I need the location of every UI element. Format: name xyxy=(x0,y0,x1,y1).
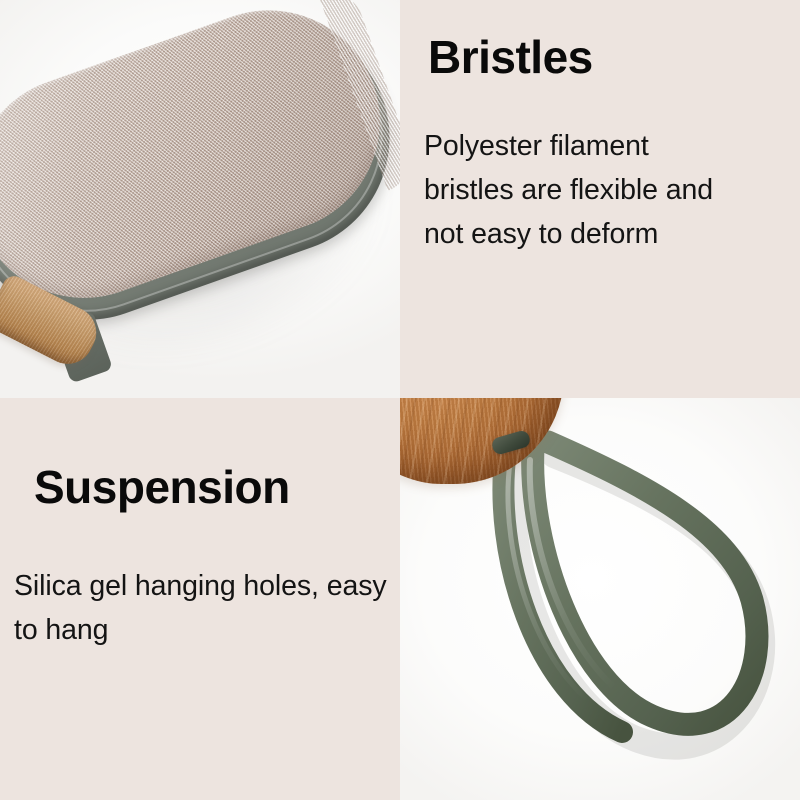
feature-heading-suspension: Suspension xyxy=(34,464,290,510)
text-panel-bristles: Bristles Polyester filament bristles are… xyxy=(400,0,800,398)
photo-panel-brush-head xyxy=(0,0,400,398)
feature-body-bristles: Polyester filament bristles are flexible… xyxy=(424,124,732,256)
photo-panel-hanging-loop xyxy=(400,398,800,800)
feature-heading-bristles: Bristles xyxy=(428,34,593,80)
text-panel-suspension: Suspension Silica gel hanging holes, eas… xyxy=(0,398,400,800)
product-feature-infographic: Bristles Polyester filament bristles are… xyxy=(0,0,800,800)
feature-body-suspension: Silica gel hanging holes, easy to hang xyxy=(14,564,388,652)
